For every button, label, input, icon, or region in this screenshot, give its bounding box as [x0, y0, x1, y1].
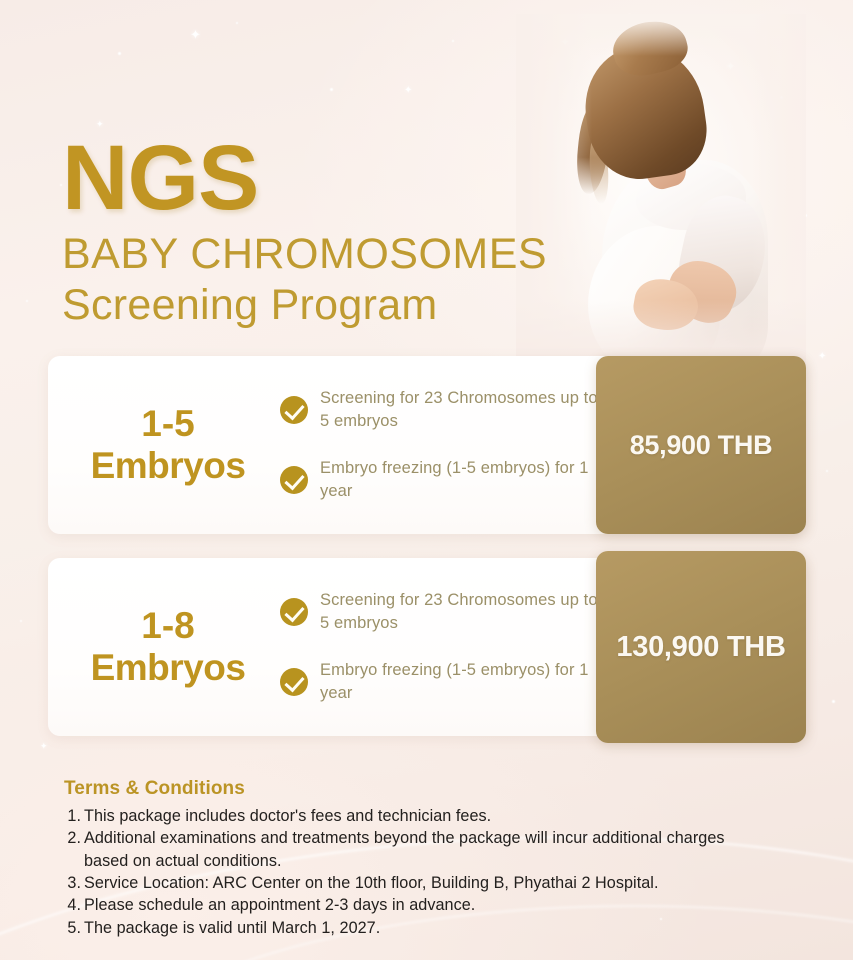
- package-feature-list: Screening for 23 Chromosomes up to 5 emb…: [280, 589, 608, 706]
- package-card-1[interactable]: 1-5 Embryos Screening for 23 Chromosomes…: [48, 356, 806, 534]
- terms-and-conditions-section: Terms & Conditions 1. This package inclu…: [64, 778, 764, 939]
- package-price: 130,900 THB: [616, 631, 785, 664]
- package-feature-item: Screening for 23 Chromosomes up to 5 emb…: [280, 589, 598, 636]
- photo-edge-fade: [752, 14, 806, 366]
- sparkle-star-icon: ✦: [190, 28, 201, 41]
- photo-hair-strand: [588, 133, 611, 204]
- package-card-2[interactable]: 1-8 Embryos Screening for 23 Chromosomes…: [48, 558, 806, 736]
- package-card-content: 1-5 Embryos Screening for 23 Chromosomes…: [48, 356, 608, 534]
- terms-item-number: 2.: [64, 827, 84, 849]
- photo-edge-fade: [516, 14, 806, 56]
- hero-photo-pregnant-woman: [516, 14, 806, 366]
- check-circle-icon: [280, 598, 308, 626]
- photo-hair-bun: [608, 14, 692, 82]
- package-feature-item: Embryo freezing (1-5 embryos) for 1 year: [280, 659, 598, 706]
- terms-list-item: 2. Additional examinations and treatment…: [64, 827, 764, 872]
- terms-item-text: This package includes doctor's fees and …: [84, 805, 764, 827]
- photo-torso: [602, 160, 768, 366]
- package-feature-text: Embryo freezing (1-5 embryos) for 1 year: [320, 457, 598, 504]
- package-card-content: 1-8 Embryos Screening for 23 Chromosomes…: [48, 558, 608, 736]
- check-circle-icon: [280, 668, 308, 696]
- sparkle-dot: [804, 214, 807, 217]
- check-circle-icon: [280, 396, 308, 424]
- package-feature-item: Screening for 23 Chromosomes up to 5 emb…: [280, 387, 598, 434]
- terms-item-text: Additional examinations and treatments b…: [84, 827, 764, 872]
- photo-face: [592, 76, 693, 183]
- photo-shoulder: [636, 164, 746, 230]
- sparkle-dot: [832, 700, 835, 703]
- page-subtitle-line2: Screening Program: [62, 282, 547, 328]
- check-circle-icon: [280, 466, 308, 494]
- terms-item-number: 4.: [64, 894, 84, 916]
- photo-sleeve: [671, 189, 775, 320]
- package-quantity-label: Embryos: [56, 647, 280, 689]
- sparkle-dot: [236, 22, 238, 24]
- package-quantity-label: Embryos: [56, 445, 280, 487]
- photo-backdrop-glow: [516, 14, 806, 366]
- package-feature-text: Screening for 23 Chromosomes up to 5 emb…: [320, 387, 598, 434]
- sparkle-star-icon: ✦: [818, 352, 826, 362]
- sparkle-dot: [330, 88, 333, 91]
- package-quantity-range: 1-5: [56, 403, 280, 445]
- sparkle-star-icon: ✦: [726, 62, 735, 73]
- package-price: 85,900 THB: [630, 430, 773, 461]
- sparkle-star-icon: ✦: [560, 36, 570, 48]
- photo-hand: [630, 275, 702, 335]
- headline-block: NGS BABY CHROMOSOMES Screening Program: [62, 134, 547, 329]
- sparkle-dot: [780, 96, 783, 99]
- photo-belly: [588, 226, 720, 366]
- sparkle-dot: [826, 470, 828, 472]
- package-feature-text: Embryo freezing (1-5 embryos) for 1 year: [320, 659, 598, 706]
- photo-neck: [638, 135, 690, 192]
- package-quantity: 1-8 Embryos: [48, 605, 280, 689]
- photo-hair: [577, 38, 712, 185]
- terms-item-text: Service Location: ARC Center on the 10th…: [84, 872, 764, 894]
- sparkle-star-icon: ✦: [700, 134, 708, 144]
- package-feature-item: Embryo freezing (1-5 embryos) for 1 year: [280, 457, 598, 504]
- page-subtitle-line1: BABY CHROMOSOMES: [62, 232, 547, 277]
- package-quantity-range: 1-8: [56, 605, 280, 647]
- terms-list-item: 1. This package includes doctor's fees a…: [64, 805, 764, 827]
- package-quantity: 1-5 Embryos: [48, 403, 280, 487]
- package-feature-list: Screening for 23 Chromosomes up to 5 emb…: [280, 387, 608, 504]
- terms-item-number: 5.: [64, 917, 84, 939]
- terms-list-item: 5. The package is valid until March 1, 2…: [64, 917, 764, 939]
- terms-list-item: 4. Please schedule an appointment 2-3 da…: [64, 894, 764, 916]
- sparkle-dot: [118, 52, 121, 55]
- package-price-box: 85,900 THB: [596, 356, 806, 534]
- terms-item-text: Please schedule an appointment 2-3 days …: [84, 894, 764, 916]
- sparkle-dot: [26, 300, 28, 302]
- sparkle-dot: [628, 14, 631, 17]
- sparkle-star-icon: ✦: [40, 742, 48, 751]
- photo-hair-strand: [573, 101, 612, 196]
- terms-heading: Terms & Conditions: [64, 778, 764, 800]
- sparkle-dot: [20, 620, 22, 622]
- package-price-box: 130,900 THB: [596, 551, 806, 743]
- terms-item-text: The package is valid until March 1, 2027…: [84, 917, 764, 939]
- poster-canvas: ✦ ✦ ✦ ✦ ✦ ✦ ✦ ✦ NGS BABY CHROMOSOMES Scr…: [0, 0, 853, 960]
- sparkle-star-icon: ✦: [404, 86, 412, 96]
- terms-item-number: 3.: [64, 872, 84, 894]
- sparkle-dot: [452, 40, 454, 42]
- page-title: NGS: [62, 134, 547, 222]
- terms-list-item: 3. Service Location: ARC Center on the 1…: [64, 872, 764, 894]
- package-feature-text: Screening for 23 Chromosomes up to 5 emb…: [320, 589, 598, 636]
- decorative-arc-top-secondary: [0, 0, 853, 112]
- terms-item-number: 1.: [64, 805, 84, 827]
- photo-arm: [660, 251, 745, 330]
